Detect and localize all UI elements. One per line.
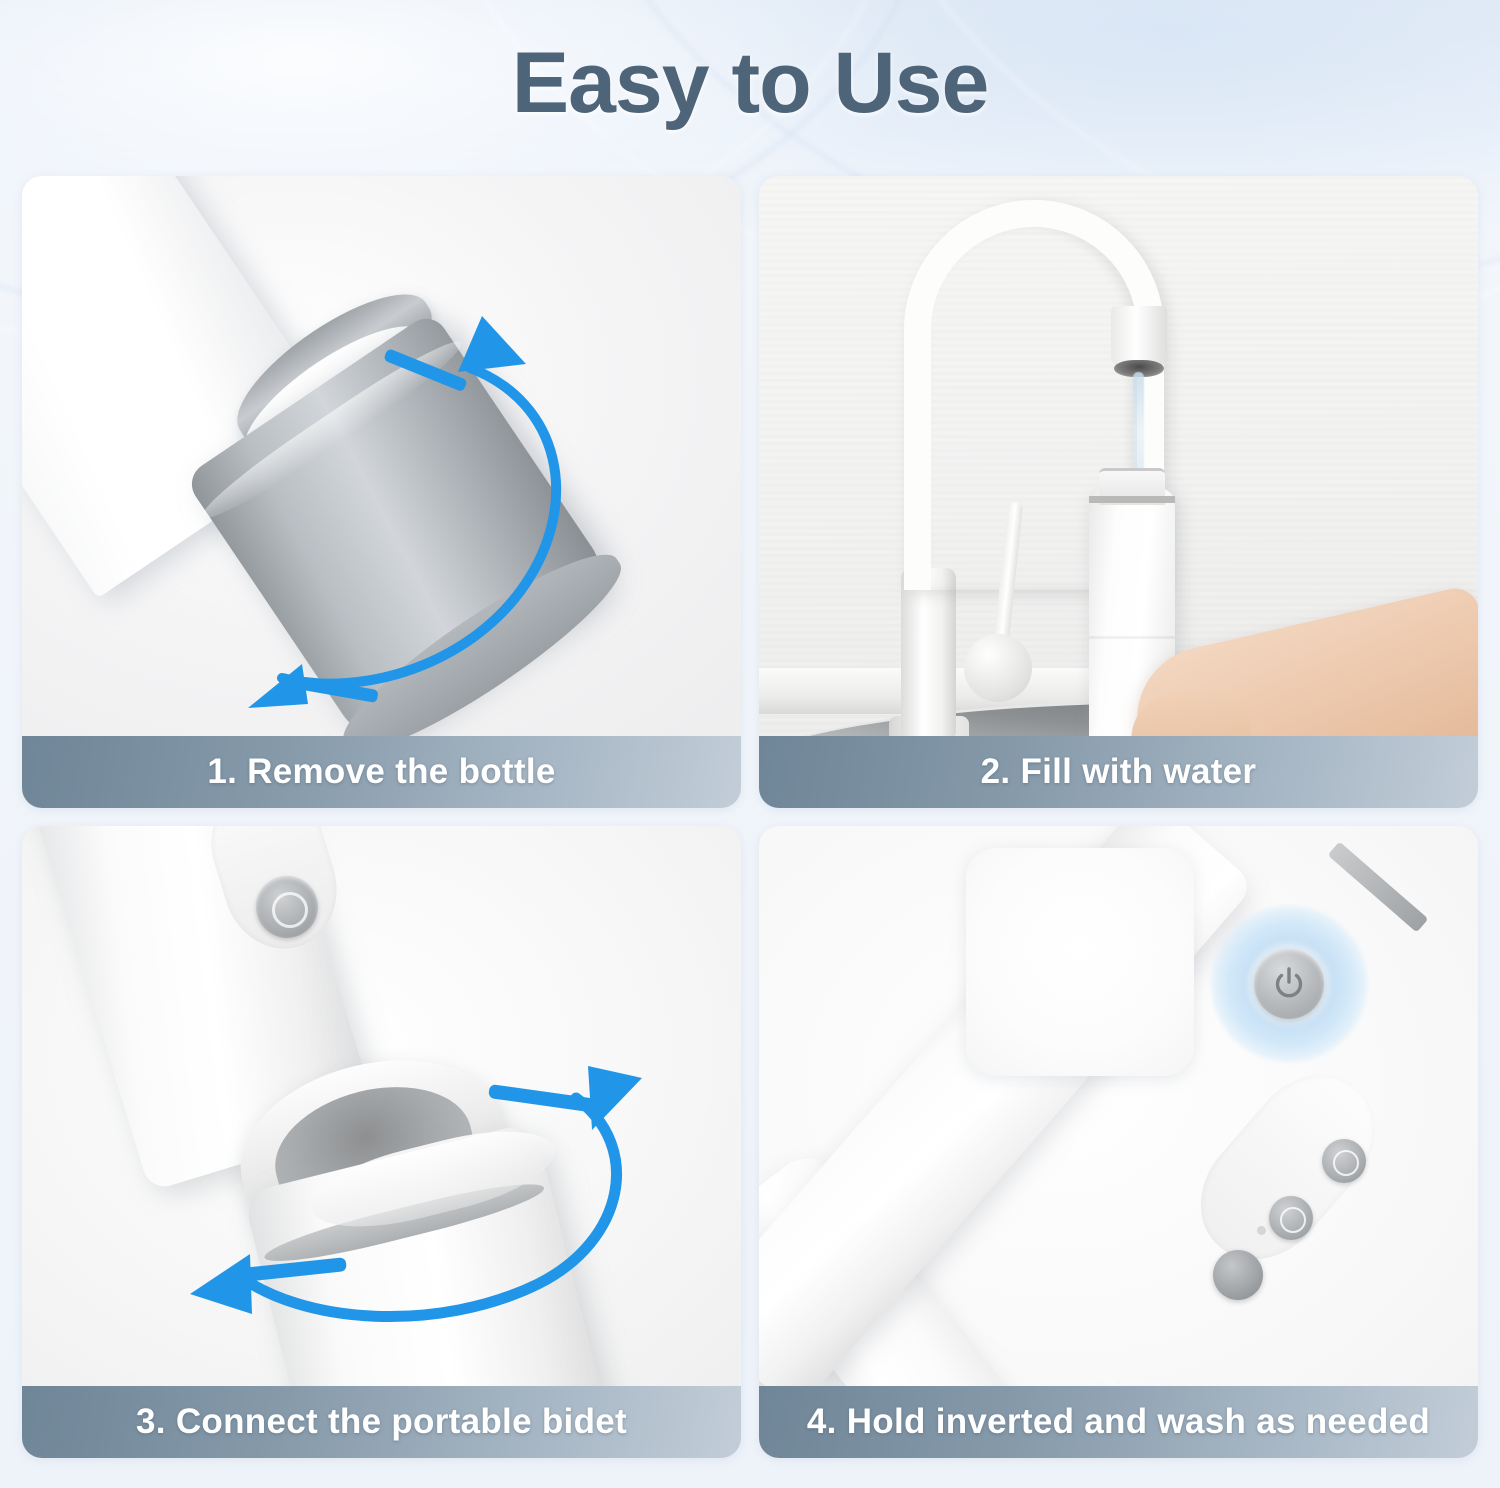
step-2-caption: 2. Fill with water <box>759 736 1478 808</box>
faucet-spout-icon <box>1111 306 1167 368</box>
power-button-icon <box>1269 1196 1313 1240</box>
nozzle-button-icon <box>256 876 318 938</box>
mode-button-icon <box>1322 1139 1366 1183</box>
nozzle-release-button-icon <box>1213 1250 1263 1300</box>
step-1-caption: 1. Remove the bottle <box>22 736 741 808</box>
step-panel-1[interactable]: 1. Remove the bottle <box>22 176 741 808</box>
power-symbol-icon <box>1269 964 1309 1004</box>
step-3-caption: 3. Connect the portable bidet <box>22 1386 741 1458</box>
rotate-arrow-icon <box>152 306 622 726</box>
step-3-illustration <box>22 826 741 1386</box>
page-title: Easy to Use <box>0 34 1500 133</box>
step-2-illustration <box>759 176 1478 736</box>
step-panel-4[interactable]: 4. Hold inverted and wash as needed <box>759 826 1478 1458</box>
faucet-knob-icon <box>964 634 1032 702</box>
step-panel-3[interactable]: 3. Connect the portable bidet <box>22 826 741 1458</box>
step-4-illustration <box>759 826 1478 1386</box>
step-1-illustration <box>22 176 741 736</box>
step-4-caption: 4. Hold inverted and wash as needed <box>759 1386 1478 1458</box>
faucet-column-icon <box>901 568 956 736</box>
step-panel-2[interactable]: 2. Fill with water <box>759 176 1478 808</box>
rotate-arrow-icon <box>172 1026 692 1386</box>
bottle-seam <box>1089 636 1175 639</box>
led-indicator-icon <box>1257 1226 1266 1235</box>
steps-grid: 1. Remove the bottle 2. Fill with water <box>22 176 1478 1466</box>
power-button-icon[interactable] <box>1254 949 1324 1019</box>
power-button-callout-card <box>966 848 1194 1076</box>
